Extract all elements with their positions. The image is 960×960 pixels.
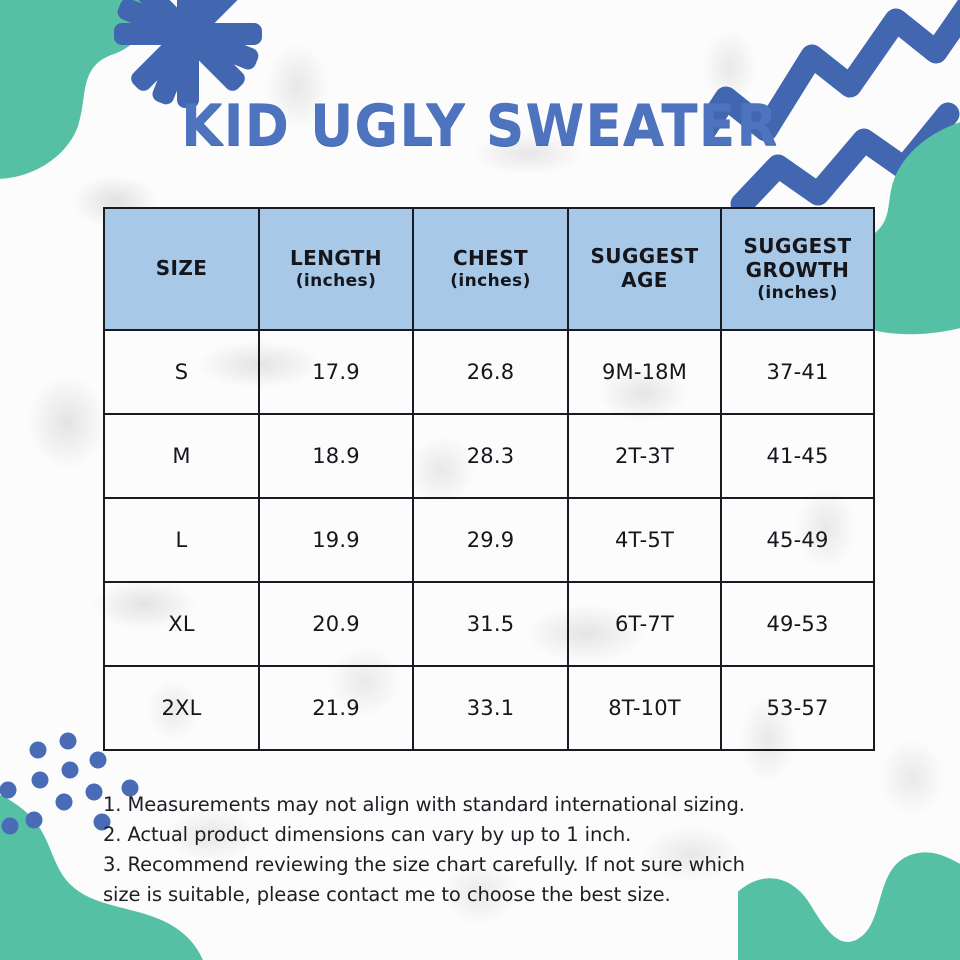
cell-chest: 29.9 <box>413 498 568 582</box>
column-header-chest: CHEST (inches) <box>413 208 568 330</box>
note-1: 1. Measurements may not align with stand… <box>103 790 878 820</box>
size-chart-page: KID UGLY SWEATER SIZE LENGTH (inches) CH… <box>0 0 960 960</box>
cell-age: 9M-18M <box>568 330 721 414</box>
column-header-suggest-age: SUGGEST AGE <box>568 208 721 330</box>
cell-chest: 28.3 <box>413 414 568 498</box>
table-body: S 17.9 26.8 9M-18M 37-41 M 18.9 28.3 2T-… <box>104 330 874 750</box>
table-row: 2XL 21.9 33.1 8T-10T 53-57 <box>104 666 874 750</box>
cell-growth: 41-45 <box>721 414 874 498</box>
column-header-suggest-age-line2: AGE <box>621 268 668 292</box>
cell-length: 18.9 <box>259 414 413 498</box>
cell-growth: 49-53 <box>721 582 874 666</box>
cell-age: 2T-3T <box>568 414 721 498</box>
table-header-row: SIZE LENGTH (inches) CHEST (inches) SUGG… <box>104 208 874 330</box>
column-header-length-label: LENGTH <box>290 246 382 270</box>
note-3-continued: size is suitable, please contact me to c… <box>103 880 878 910</box>
cell-growth: 53-57 <box>721 666 874 750</box>
cell-length: 21.9 <box>259 666 413 750</box>
column-header-size-label: SIZE <box>156 256 208 280</box>
notes-section: 1. Measurements may not align with stand… <box>103 790 878 910</box>
cell-chest: 33.1 <box>413 666 568 750</box>
cell-chest: 26.8 <box>413 330 568 414</box>
cell-growth: 45-49 <box>721 498 874 582</box>
cell-age: 8T-10T <box>568 666 721 750</box>
table-header: SIZE LENGTH (inches) CHEST (inches) SUGG… <box>104 208 874 330</box>
column-header-chest-label: CHEST <box>453 246 528 270</box>
column-header-suggest-growth-line2: GROWTH <box>746 258 850 282</box>
table-row: XL 20.9 31.5 6T-7T 49-53 <box>104 582 874 666</box>
note-3: 3. Recommend reviewing the size chart ca… <box>103 850 878 880</box>
cell-chest: 31.5 <box>413 582 568 666</box>
table-row: S 17.9 26.8 9M-18M 37-41 <box>104 330 874 414</box>
column-header-size: SIZE <box>104 208 259 330</box>
cell-length: 17.9 <box>259 330 413 414</box>
cell-length: 20.9 <box>259 582 413 666</box>
column-header-suggest-growth-line1: SUGGEST <box>744 234 852 258</box>
column-header-length-unit: (inches) <box>262 271 410 291</box>
cell-age: 6T-7T <box>568 582 721 666</box>
column-header-chest-unit: (inches) <box>416 271 565 291</box>
cell-length: 19.9 <box>259 498 413 582</box>
cell-size: XL <box>104 582 259 666</box>
column-header-suggest-growth-unit: (inches) <box>724 283 871 303</box>
cell-growth: 37-41 <box>721 330 874 414</box>
page-title: KID UGLY SWEATER <box>34 98 927 155</box>
column-header-length: LENGTH (inches) <box>259 208 413 330</box>
note-2: 2. Actual product dimensions can vary by… <box>103 820 878 850</box>
column-header-suggest-growth: SUGGEST GROWTH (inches) <box>721 208 874 330</box>
column-header-suggest-age-line1: SUGGEST <box>591 244 699 268</box>
cell-size: L <box>104 498 259 582</box>
size-chart-table: SIZE LENGTH (inches) CHEST (inches) SUGG… <box>103 207 875 751</box>
table-row: M 18.9 28.3 2T-3T 41-45 <box>104 414 874 498</box>
cell-size: 2XL <box>104 666 259 750</box>
table-row: L 19.9 29.9 4T-5T 45-49 <box>104 498 874 582</box>
cell-age: 4T-5T <box>568 498 721 582</box>
cell-size: M <box>104 414 259 498</box>
cell-size: S <box>104 330 259 414</box>
